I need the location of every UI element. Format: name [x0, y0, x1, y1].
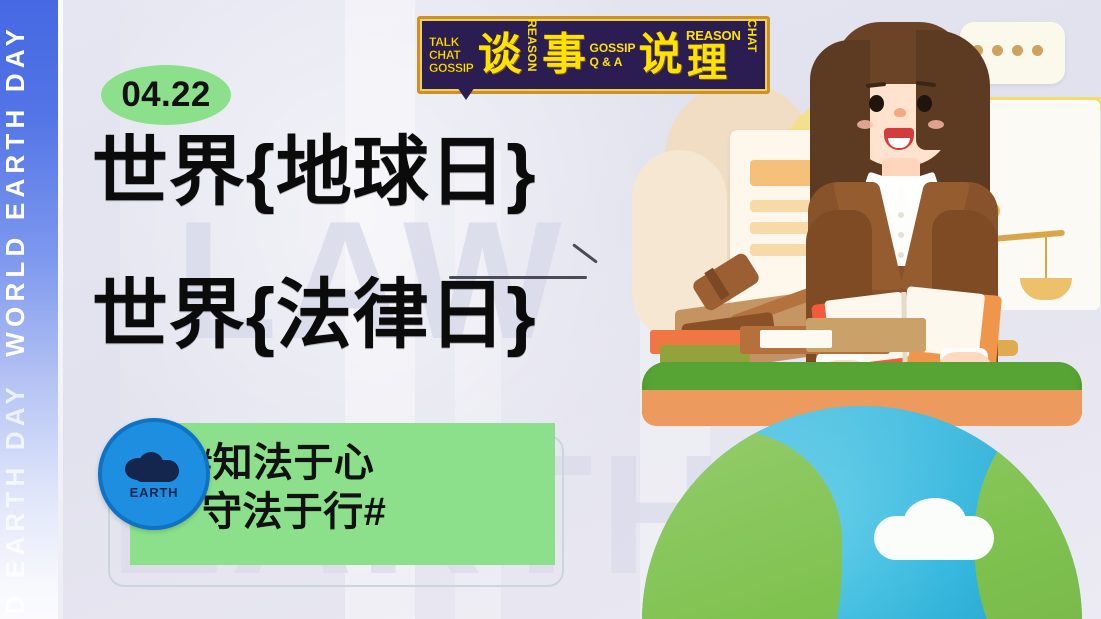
- hair-sweep-left: [810, 40, 870, 190]
- shirt-button-2: [898, 232, 904, 238]
- logo-text-gossip-2: GOSSIP: [589, 42, 635, 55]
- eye-left: [869, 95, 884, 112]
- stacked-book-label: [760, 330, 832, 348]
- earth-badge-label: EARTH: [130, 485, 179, 500]
- nose: [894, 108, 906, 117]
- scales-string-right: [1045, 232, 1047, 282]
- cheek-left: [857, 120, 873, 129]
- logo-char-tan: 谈: [477, 19, 523, 91]
- left-sidebar: WORLD EARTH DAY WORLD EARTH DAY: [0, 0, 58, 619]
- logo-text-qa: Q & A: [589, 56, 635, 69]
- logo-english-mid: GOSSIP Q & A: [587, 19, 637, 91]
- earth-badge: EARTH: [98, 418, 210, 530]
- headline-law-day: 世界{法律日}: [92, 278, 536, 354]
- hashtag-line-1: #知法于心: [190, 439, 386, 488]
- cheek-right: [928, 120, 944, 129]
- earth-globe: [642, 406, 1082, 619]
- logo-text-talk: TALK: [429, 36, 474, 48]
- shirt-button-3: [898, 252, 904, 258]
- cloud-icon: [125, 452, 183, 484]
- hashtag-banner-text: #知法于心 守法于行#: [190, 439, 386, 537]
- sidebar-label-primary: WORLD EARTH DAY: [0, 24, 58, 357]
- speech-bubble-dots: [972, 45, 1043, 56]
- sidebar-edge-highlight: [58, 0, 63, 619]
- shirt-button-1: [898, 212, 904, 218]
- logo-char-shuo: 说: [638, 19, 684, 91]
- hashtag-line-2: 守法于行#: [190, 488, 386, 537]
- logo-english-left: TALK CHAT GOSSIP: [426, 19, 477, 91]
- logo-tail: [455, 84, 477, 100]
- logo-text-reason-1: REASON: [523, 19, 541, 91]
- logo-char-li: 理: [686, 43, 728, 83]
- eye-right: [917, 95, 932, 112]
- poster-canvas: LAW EARTH: [0, 0, 1101, 619]
- logo-text-gossip: GOSSIP: [429, 62, 474, 74]
- logo-text-chat: CHAT: [429, 49, 474, 61]
- date-badge-text: 04.22: [121, 75, 210, 115]
- logo-english-right: REASON 理: [684, 19, 743, 91]
- date-badge: 04.22: [101, 65, 231, 125]
- headline-earth-day: 世界{地球日}: [92, 135, 536, 211]
- logo-text-chat-2: CHAT: [743, 19, 761, 91]
- sidebar-label-secondary: WORLD EARTH DAY: [0, 382, 58, 619]
- logo-char-shi: 事: [541, 19, 587, 91]
- program-logo: TALK CHAT GOSSIP 谈 REASON 事 GOSSIP Q & A…: [417, 16, 770, 94]
